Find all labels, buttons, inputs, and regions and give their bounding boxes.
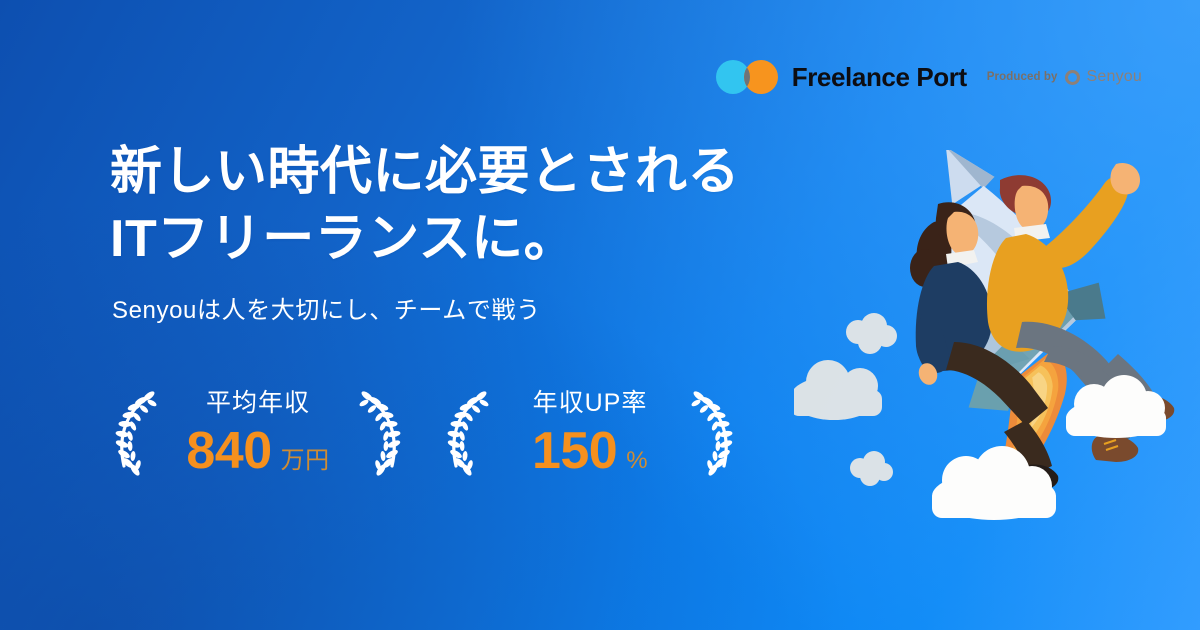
stat-unit: % [626, 449, 648, 473]
stat-value-row: 840 万円 [186, 425, 329, 477]
cloud-small-left [846, 313, 897, 354]
hero-banner: Freelance Port Produced by Senyou 新しい時代に… [0, 0, 1200, 630]
stat-label: 年収UP率 [533, 391, 648, 416]
brand-name: Freelance Port [792, 62, 967, 93]
producer-name: Senyou [1087, 68, 1142, 86]
headline-line-2: ITフリーランスに。 [110, 206, 740, 273]
senyou-ring-icon [1065, 70, 1080, 85]
man-fist [1110, 163, 1140, 194]
stat-value-row: 150 % [532, 425, 648, 477]
stat-card-average-income: 平均年収 840 万円 [108, 378, 408, 490]
cloud-tiny-lower-left [850, 451, 893, 486]
man-shoe-front [1092, 435, 1139, 462]
cloud-group-back [794, 313, 897, 486]
brand-logo-bar[interactable]: Freelance Port Produced by Senyou [716, 60, 1142, 94]
stat-value: 840 [186, 425, 271, 477]
cloud-right-mid [1066, 375, 1166, 438]
freelance-port-logo-icon [716, 60, 778, 94]
headline-line-1: 新しい時代に必要とされる [110, 143, 740, 201]
stat-card-income-up-rate: 年収UP率 150 % [440, 378, 740, 490]
stat-value: 150 [532, 425, 617, 477]
stat-label: 平均年収 [206, 391, 310, 416]
hero-subtitle: Senyouは人を大切にし、チームで戦う [112, 290, 541, 325]
logo-overlap-shape [716, 60, 778, 94]
stats-group: 平均年収 840 万円 [108, 378, 740, 490]
stat-unit: 万円 [281, 449, 330, 473]
rocket-with-two-people-illustration [794, 150, 1194, 540]
hero-headline: 新しい時代に必要とされる ITフリーランスに。 [110, 139, 740, 272]
cloud-medium-left [794, 360, 882, 420]
produced-by-group: Produced by Senyou [987, 68, 1142, 86]
produced-by-label: Produced by [987, 71, 1058, 83]
